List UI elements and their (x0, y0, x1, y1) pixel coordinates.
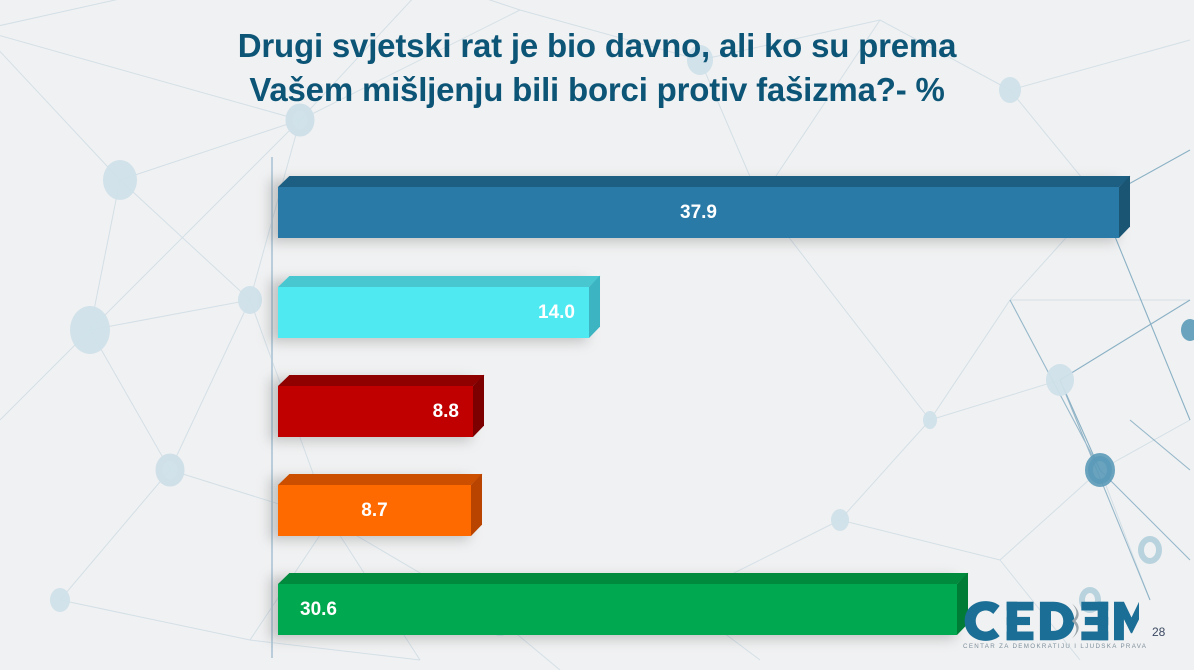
cedem-logo-tagline: CENTAR ZA DEMOKRATIJU I LJUDSKA PRAVA (963, 643, 1139, 650)
page-number: 28 (1152, 625, 1165, 639)
bar-value-cetnici: 8.7 (278, 485, 471, 536)
title-line-1: Drugi svjetski rat je bio davno, ali ko … (0, 24, 1194, 68)
bar-ne-znam-nemam-stav[interactable]: 30.6 (278, 573, 957, 635)
bar-partizani[interactable]: 37.9 (278, 176, 1119, 238)
bar-top-face (278, 176, 1130, 187)
bar-cetnici[interactable]: 8.7 (278, 474, 471, 536)
cedem-logo: CENTAR ZA DEMOKRATIJU I LJUDSKA PRAVA (963, 600, 1139, 650)
bar-value-ne-znam-nemam-stav: 30.6 (300, 584, 337, 635)
cedem-logo-mark (963, 600, 1139, 642)
bar-value-partizani: 37.9 (278, 187, 1119, 238)
bar-top-face (278, 276, 600, 287)
bar-i-jedni-i-drugi[interactable]: 14.0 (278, 276, 589, 338)
bar-top-face (278, 474, 482, 485)
bar-top-face (278, 573, 968, 584)
bar-value-i-jedni-i-drugi: 14.0 (538, 287, 575, 338)
bar-top-face (278, 375, 484, 386)
bar-side-face (589, 276, 600, 338)
bar-value-niti-jedni-niti-drugi: 8.8 (433, 386, 459, 437)
bar-side-face (471, 474, 482, 536)
title-line-2: Vašem mišljenju bili borci protiv fašizm… (0, 68, 1194, 112)
page-title: Drugi svjetski rat je bio davno, ali ko … (0, 24, 1194, 111)
bar-front-face (278, 584, 957, 635)
bar-side-face (473, 375, 484, 437)
bar-niti-jedni-niti-drugi[interactable]: 8.8 (278, 375, 473, 437)
bar-side-face (1119, 176, 1130, 238)
